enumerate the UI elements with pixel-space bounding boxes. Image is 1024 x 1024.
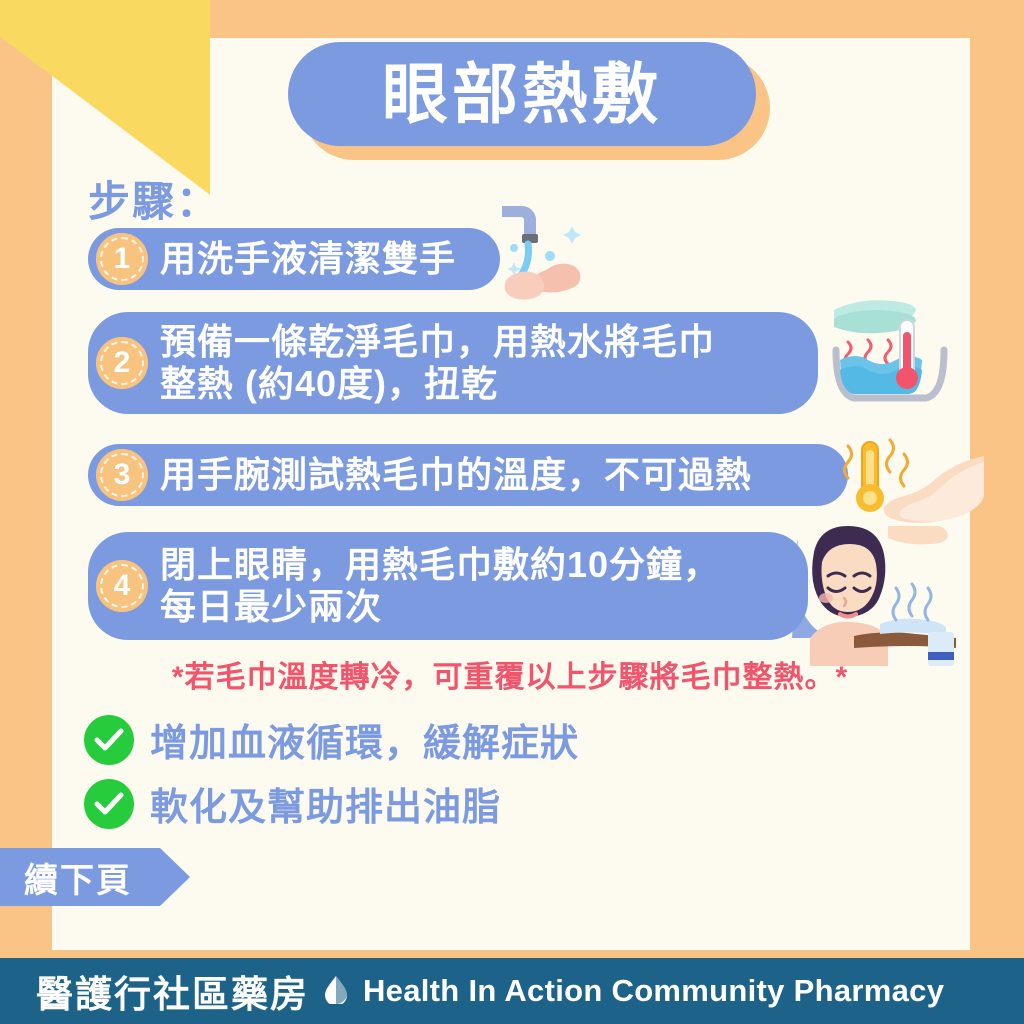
infographic-poster: 眼部熱敷 步驟： 1 用洗手液清潔雙手 2 預備一條乾淨毛巾，用熱水將毛巾 整熱… [0, 0, 1024, 1024]
step-text-4: 閉上眼睛，用熱毛巾敷約10分鐘， 每日最少兩次 [160, 544, 720, 629]
title-badge-group: 眼部熱敷 [288, 42, 760, 160]
page-title: 眼部熱敷 [382, 61, 662, 127]
step-item-2: 2 預備一條乾淨毛巾，用熱水將毛巾 整熱 (約40度)，扭乾 [88, 312, 818, 414]
steps-heading: 步驟： [88, 168, 220, 229]
step-item-4: 4 閉上眼睛，用熱毛巾敷約10分鐘， 每日最少兩次 [88, 532, 808, 640]
step-text-1: 用洗手液清潔雙手 [160, 238, 456, 280]
check-circle-icon [84, 779, 134, 829]
step-number-badge-1: 1 [96, 233, 148, 285]
woman-face-towel-illustration [792, 526, 988, 666]
step-text-4-line1: 閉上眼睛，用熱毛巾敷約10分鐘， [160, 544, 720, 585]
continue-label: 續下頁 [24, 853, 132, 902]
title-badge: 眼部熱敷 [288, 42, 756, 146]
step-number-badge-4: 4 [96, 560, 148, 612]
continue-banner: 續下頁 [0, 848, 160, 906]
step-number-badge-2: 2 [96, 337, 148, 389]
step-text-2-line1: 預備一條乾淨毛巾，用熱水將毛巾 [160, 321, 715, 362]
footer-bar: 醫護行社區藥房 Health In Action Community Pharm… [0, 958, 1024, 1024]
footer-chinese-name: 醫護行社區藥房 [36, 964, 309, 1018]
step-text-4-line2: 每日最少兩次 [160, 586, 382, 627]
footer-english-name: Health In Action Community Pharmacy [363, 973, 944, 1009]
step-item-1: 1 用洗手液清潔雙手 [88, 228, 500, 290]
step-text-2-line2: 整熱 (約40度)，扭乾 [160, 363, 498, 404]
pill-icon [323, 974, 349, 1009]
benefit-text-2: 軟化及幫助排出油脂 [150, 776, 501, 831]
benefit-item-1: 增加血液循環，緩解症狀 [84, 712, 579, 767]
step-item-3: 3 用手腕測試熱毛巾的溫度，不可過熱 [88, 444, 848, 506]
step-text-3: 用手腕測試熱毛巾的溫度，不可過熱 [160, 454, 752, 496]
step-text-2: 預備一條乾淨毛巾，用熱水將毛巾 整熱 (約40度)，扭乾 [160, 321, 715, 406]
step-number-badge-3: 3 [96, 449, 148, 501]
continue-arrow-icon [160, 848, 190, 906]
check-circle-icon [84, 715, 134, 765]
benefit-text-1: 增加血液循環，緩解症狀 [150, 712, 579, 767]
basin-towel-thermometer-illustration [828, 288, 952, 420]
benefit-item-2: 軟化及幫助排出油脂 [84, 776, 501, 831]
handwashing-illustration [488, 196, 608, 308]
